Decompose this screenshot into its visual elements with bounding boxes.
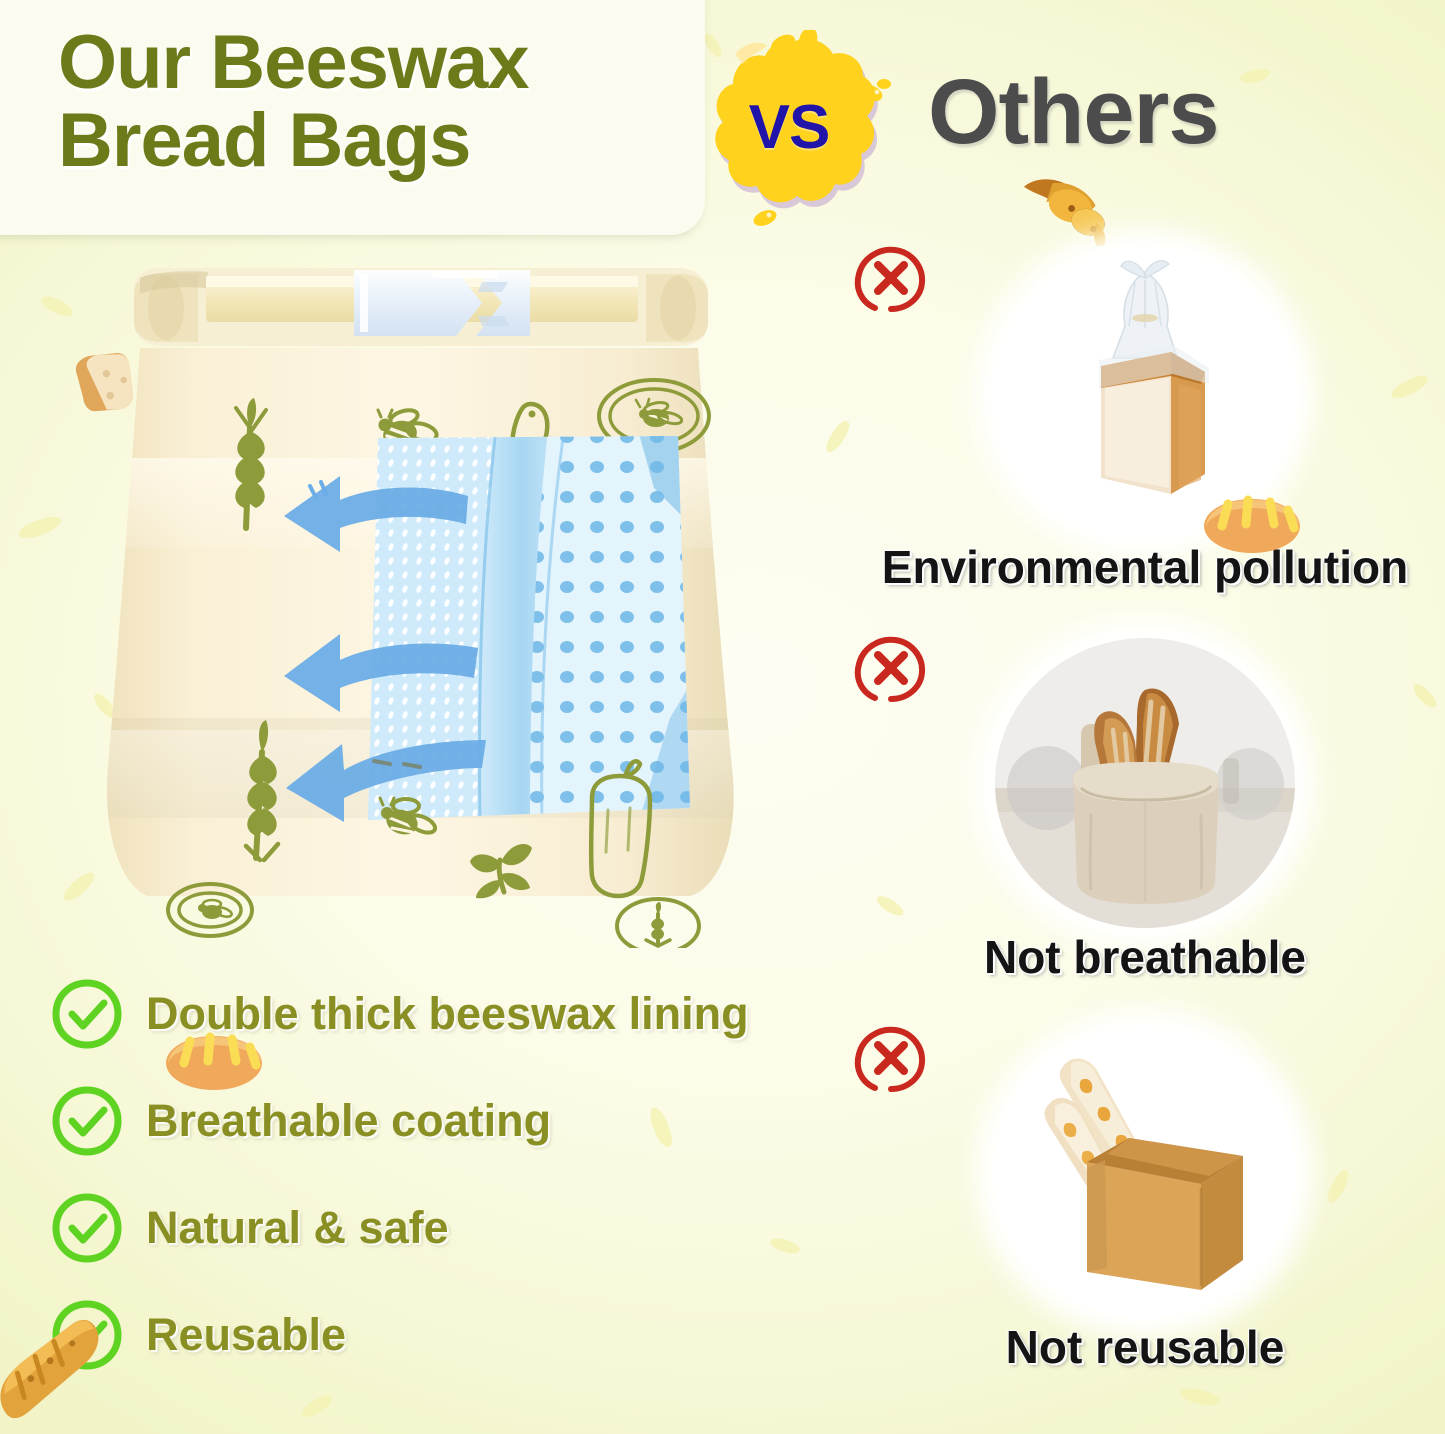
feature-item: Breathable coating [52, 1067, 842, 1174]
check-circle-icon [52, 1193, 122, 1263]
check-circle-icon [52, 979, 122, 1049]
feature-label: Breathable coating [146, 1095, 551, 1147]
con-label: Not reusable [845, 1320, 1445, 1374]
x-circle-icon [853, 630, 929, 706]
product-bag-illustration [78, 248, 778, 948]
page-title-line-2: Bread Bags [58, 102, 698, 180]
bee-stamp-small-icon [168, 884, 252, 936]
wheat-stamp-icon [617, 899, 699, 948]
page-title: Our Beeswax Bread Bags [58, 24, 698, 179]
page-title-line-1: Our Beeswax [58, 24, 698, 102]
vs-badge: VS [705, 30, 900, 245]
con-item: Environmental pollution [845, 240, 1445, 630]
bread-slice-icon [72, 344, 142, 424]
con-item: Not reusable [845, 1020, 1445, 1410]
con-photo [995, 638, 1295, 928]
con-label: Not breathable [845, 930, 1445, 984]
feature-list: Double thick beeswax lining Breathable c… [52, 960, 842, 1388]
x-circle-icon [853, 1020, 929, 1096]
bag-buckle [354, 270, 530, 336]
feature-item: Reusable [52, 1281, 842, 1388]
croissant-icon [1008, 166, 1120, 246]
bread-loaf-icon [1200, 488, 1305, 558]
infographic-canvas: Our Beeswax Bread Bags VS Others [0, 0, 1445, 1434]
check-circle-icon [52, 1086, 122, 1156]
vs-label: VS [705, 92, 873, 163]
feature-item: Natural & safe [52, 1174, 842, 1281]
baguette-icon [0, 1316, 116, 1426]
bread-loaf-icon [162, 1025, 267, 1095]
cons-list: Environmental pollution [845, 240, 1445, 1410]
con-label: Environmental pollution [845, 540, 1445, 594]
feature-label: Natural & safe [146, 1202, 449, 1254]
others-heading: Others [928, 60, 1219, 165]
feature-label: Reusable [146, 1309, 346, 1361]
con-photo [995, 1028, 1295, 1318]
con-item: Not breathable [845, 630, 1445, 1020]
x-circle-icon [853, 240, 929, 316]
